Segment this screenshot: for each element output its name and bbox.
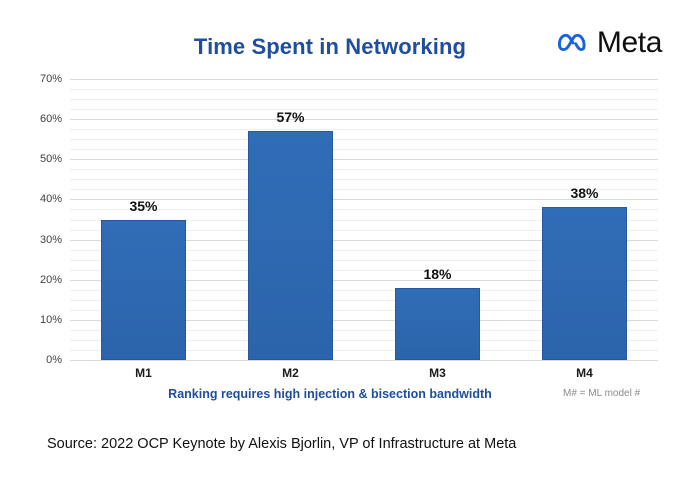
bar-value-label: 38% bbox=[522, 185, 647, 201]
bar-m4 bbox=[542, 207, 627, 360]
bar-chart: 0%10%20%30%40%50%60%70% 35%57%18%38% M1M… bbox=[0, 0, 700, 477]
gridline-major bbox=[70, 360, 658, 361]
y-axis-tick-label: 60% bbox=[40, 113, 62, 125]
gridline-major bbox=[70, 119, 658, 120]
bar-m3 bbox=[395, 288, 480, 360]
x-axis-tick-label: M1 bbox=[81, 366, 206, 380]
gridline-major bbox=[70, 79, 658, 80]
gridline-minor bbox=[70, 99, 658, 100]
gridline-minor bbox=[70, 109, 658, 110]
gridline-major bbox=[70, 159, 658, 160]
y-axis-tick-label: 0% bbox=[46, 354, 62, 366]
x-axis-tick-label: M4 bbox=[522, 366, 647, 380]
gridline-minor bbox=[70, 149, 658, 150]
y-axis-tick-label: 50% bbox=[40, 153, 62, 165]
plot-area: 35%57%18%38% bbox=[70, 79, 658, 360]
gridline-minor bbox=[70, 139, 658, 140]
slide-canvas: Time Spent in Networking Meta 0%10%20%30… bbox=[0, 0, 700, 477]
bar-m1 bbox=[101, 220, 186, 361]
source-caption: Source: 2022 OCP Keynote by Alexis Bjorl… bbox=[47, 436, 516, 452]
gridline-minor bbox=[70, 129, 658, 130]
x-axis-tick-label: M3 bbox=[375, 366, 500, 380]
gridline-minor bbox=[70, 169, 658, 170]
y-axis-tick-label: 70% bbox=[40, 73, 62, 85]
y-axis-tick-label: 10% bbox=[40, 314, 62, 326]
y-axis: 0%10%20%30%40%50%60%70% bbox=[0, 79, 62, 360]
bar-m2 bbox=[248, 131, 333, 360]
gridline-minor bbox=[70, 89, 658, 90]
bar-value-label: 35% bbox=[81, 198, 206, 214]
axis-note: M# = ML model # bbox=[563, 388, 640, 399]
bar-value-label: 57% bbox=[228, 109, 353, 125]
x-axis-label: Ranking requires high injection & bisect… bbox=[70, 387, 590, 401]
gridline-minor bbox=[70, 179, 658, 180]
y-axis-tick-label: 30% bbox=[40, 234, 62, 246]
bar-value-label: 18% bbox=[375, 266, 500, 282]
y-axis-tick-label: 40% bbox=[40, 193, 62, 205]
x-axis-tick-label: M2 bbox=[228, 366, 353, 380]
y-axis-tick-label: 20% bbox=[40, 274, 62, 286]
